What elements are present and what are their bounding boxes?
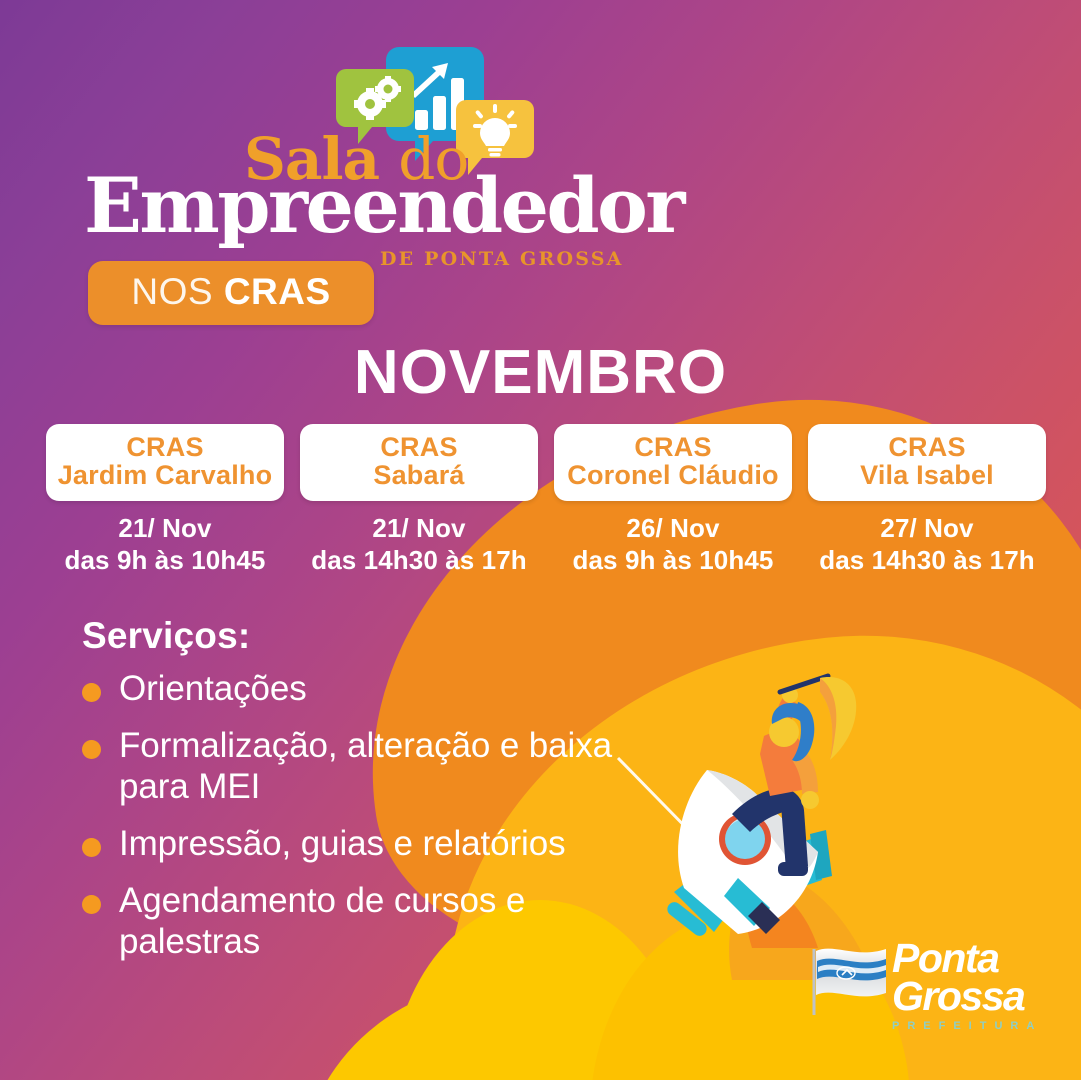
prefeitura-logo-line2: Grossa <box>892 977 1042 1016</box>
service-item: Agendamento de cursos e palestras <box>82 881 642 963</box>
bullet-dot-icon <box>82 895 101 914</box>
cras-card-time: das 14h30 às 17h <box>808 545 1046 577</box>
cras-card-time: das 9h às 10h45 <box>46 545 284 577</box>
poster-canvas: Sala do Empreendedor DE PONTA GROSSA NOS… <box>0 0 1081 1080</box>
service-item-label: Impressão, guias e relatórios <box>119 824 565 865</box>
prefeitura-logo-line1: Ponta <box>892 939 1042 977</box>
service-item-label: Agendamento de cursos e palestras <box>119 881 642 963</box>
cras-card-chip-line2: Coronel Cláudio <box>560 461 786 490</box>
cras-card-chip-line2: Sabará <box>306 461 532 490</box>
bullet-dot-icon <box>82 683 101 702</box>
prefeitura-logo-line3: PREFEITURA <box>892 1020 1042 1032</box>
cras-card-chip: CRAS Jardim Carvalho <box>46 424 284 501</box>
cras-card-date: 26/ Nov <box>554 513 792 545</box>
cras-card-chip: CRAS Sabará <box>300 424 538 501</box>
badge-word-cras: CRAS <box>224 271 331 312</box>
services-section: Serviços: Orientações Formalização, alte… <box>82 615 642 979</box>
cras-card-time: das 9h às 10h45 <box>554 545 792 577</box>
cras-card-chip-line2: Vila Isabel <box>814 461 1040 490</box>
cras-cards-row: CRAS Jardim Carvalho 21/ Nov das 9h às 1… <box>46 424 1046 577</box>
cras-card-date: 21/ Nov <box>46 513 284 545</box>
cras-card: CRAS Jardim Carvalho 21/ Nov das 9h às 1… <box>46 424 284 577</box>
cras-card-chip-line1: CRAS <box>52 433 278 461</box>
month-title: NOVEMBRO <box>0 337 1081 408</box>
service-item-label: Orientações <box>119 669 307 710</box>
logo-line-empreendedor: Empreendedor <box>84 168 683 244</box>
cras-card-date: 27/ Nov <box>808 513 1046 545</box>
cras-card: CRAS Coronel Cláudio 26/ Nov das 9h às 1… <box>554 424 792 577</box>
cras-card-time: das 14h30 às 17h <box>300 545 538 577</box>
nos-cras-badge-text: NOS CRAS <box>118 271 344 313</box>
service-item: Impressão, guias e relatórios <box>82 824 642 865</box>
service-item: Formalização, alteração e baixa para MEI <box>82 726 642 808</box>
cras-card-chip: CRAS Coronel Cláudio <box>554 424 792 501</box>
service-item: Orientações <box>82 669 642 710</box>
prefeitura-ponta-grossa-logo: Ponta Grossa PREFEITURA <box>812 935 1062 1050</box>
cras-card: CRAS Sabará 21/ Nov das 14h30 às 17h <box>300 424 538 577</box>
yellow-blob-center <box>300 980 720 1080</box>
prefeitura-logo-text: Ponta Grossa PREFEITURA <box>892 939 1042 1032</box>
bullet-dot-icon <box>82 838 101 857</box>
logo-subtitle: DE PONTA GROSSA <box>380 248 624 270</box>
cras-card-chip-line1: CRAS <box>560 433 786 461</box>
entrepreneur-on-rocket-illustration <box>612 640 892 980</box>
service-item-label: Formalização, alteração e baixa para MEI <box>119 726 642 808</box>
cras-card-chip-line1: CRAS <box>814 433 1040 461</box>
cras-card-chip-line2: Jardim Carvalho <box>52 461 278 490</box>
cras-card-chip: CRAS Vila Isabel <box>808 424 1046 501</box>
bullet-dot-icon <box>82 740 101 759</box>
cras-card: CRAS Vila Isabel 27/ Nov das 14h30 às 17… <box>808 424 1046 577</box>
cras-card-chip-line1: CRAS <box>306 433 532 461</box>
badge-word-nos: NOS <box>131 271 213 312</box>
nos-cras-badge: NOS CRAS <box>88 261 374 325</box>
services-title: Serviços: <box>82 615 642 657</box>
ponta-grossa-flag-icon <box>812 943 890 1023</box>
cras-card-date: 21/ Nov <box>300 513 538 545</box>
